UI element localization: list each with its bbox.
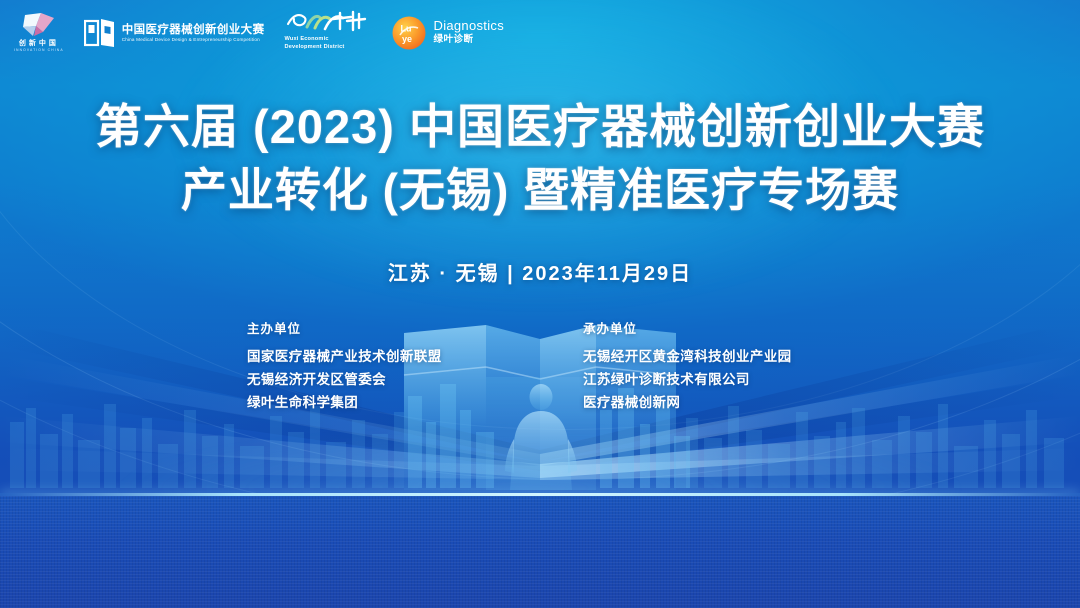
- logo-luye-en: Diagnostics: [434, 19, 505, 33]
- logo-innovation-china-en: INNOVATION CHINA: [14, 49, 64, 52]
- calligraphy-mark: [285, 10, 371, 32]
- butterfly-wing-mark: [21, 10, 57, 38]
- co-host-item: 江苏绿叶诊断技术有限公司: [583, 368, 833, 391]
- host-item: 绿叶生命科学集团: [247, 391, 497, 414]
- host-item: 国家医疗器械产业技术创新联盟: [247, 345, 497, 368]
- title-line-2: 产业转化 (无锡) 暨精准医疗专场赛: [0, 161, 1080, 221]
- logo-wuxi-edd[interactable]: Wuxi Economic Development District: [285, 10, 371, 56]
- host-column: 主办单位 国家医疗器械产业技术创新联盟 无锡经济开发区管委会 绿叶生命科学集团: [247, 318, 497, 415]
- logo-cmdc[interactable]: 中国医疗器械创新创业大赛 China Medical Device Design…: [84, 10, 265, 56]
- logo-wuxi-edd-en-line1: Wuxi Economic: [285, 35, 329, 43]
- logo-cmdc-cn: 中国医疗器械创新创业大赛: [122, 23, 265, 37]
- host-item: 无锡经济开发区管委会: [247, 368, 497, 391]
- organizer-block: 主办单位 国家医疗器械产业技术创新联盟 无锡经济开发区管委会 绿叶生命科学集团 …: [0, 318, 1080, 415]
- svg-text:ye: ye: [402, 34, 412, 44]
- co-host-item: 无锡经开区黄金湾科技创业产业园: [583, 345, 833, 368]
- logo-luye-diagnostics[interactable]: Lu ye Diagnostics 绿叶诊断: [391, 10, 505, 56]
- title-line-1: 第六届 (2023) 中国医疗器械创新创业大赛: [0, 96, 1080, 157]
- host-heading: 主办单位: [247, 318, 497, 337]
- ground-band: [0, 496, 1080, 608]
- luye-circle-mark: Lu ye: [391, 15, 427, 51]
- co-host-column: 承办单位 无锡经开区黄金湾科技创业产业园 江苏绿叶诊断技术有限公司 医疗器械创新…: [583, 318, 833, 415]
- logo-luye-cn: 绿叶诊断: [434, 34, 505, 47]
- event-poster: 创新中国 INNOVATION CHINA 中国医疗器械创新创业大赛 China…: [0, 0, 1080, 608]
- open-door-mark: [84, 17, 116, 49]
- poster-headline: 第六届 (2023) 中国医疗器械创新创业大赛 产业转化 (无锡) 暨精准医疗专…: [0, 96, 1080, 221]
- co-host-item: 医疗器械创新网: [583, 391, 833, 414]
- logo-innovation-china[interactable]: 创新中国 INNOVATION CHINA: [14, 10, 64, 56]
- logo-wuxi-edd-en-line2: Development District: [285, 43, 345, 51]
- event-location-date: 江苏 · 无锡 | 2023年11月29日: [0, 257, 1080, 286]
- logo-innovation-china-cn: 创新中国: [19, 40, 59, 47]
- logo-cmdc-en: China Medical Device Design & Entreprene…: [122, 37, 265, 43]
- co-host-heading: 承办单位: [583, 318, 833, 337]
- sponsor-logo-bar: 创新中国 INNOVATION CHINA 中国医疗器械创新创业大赛 China…: [0, 0, 1080, 66]
